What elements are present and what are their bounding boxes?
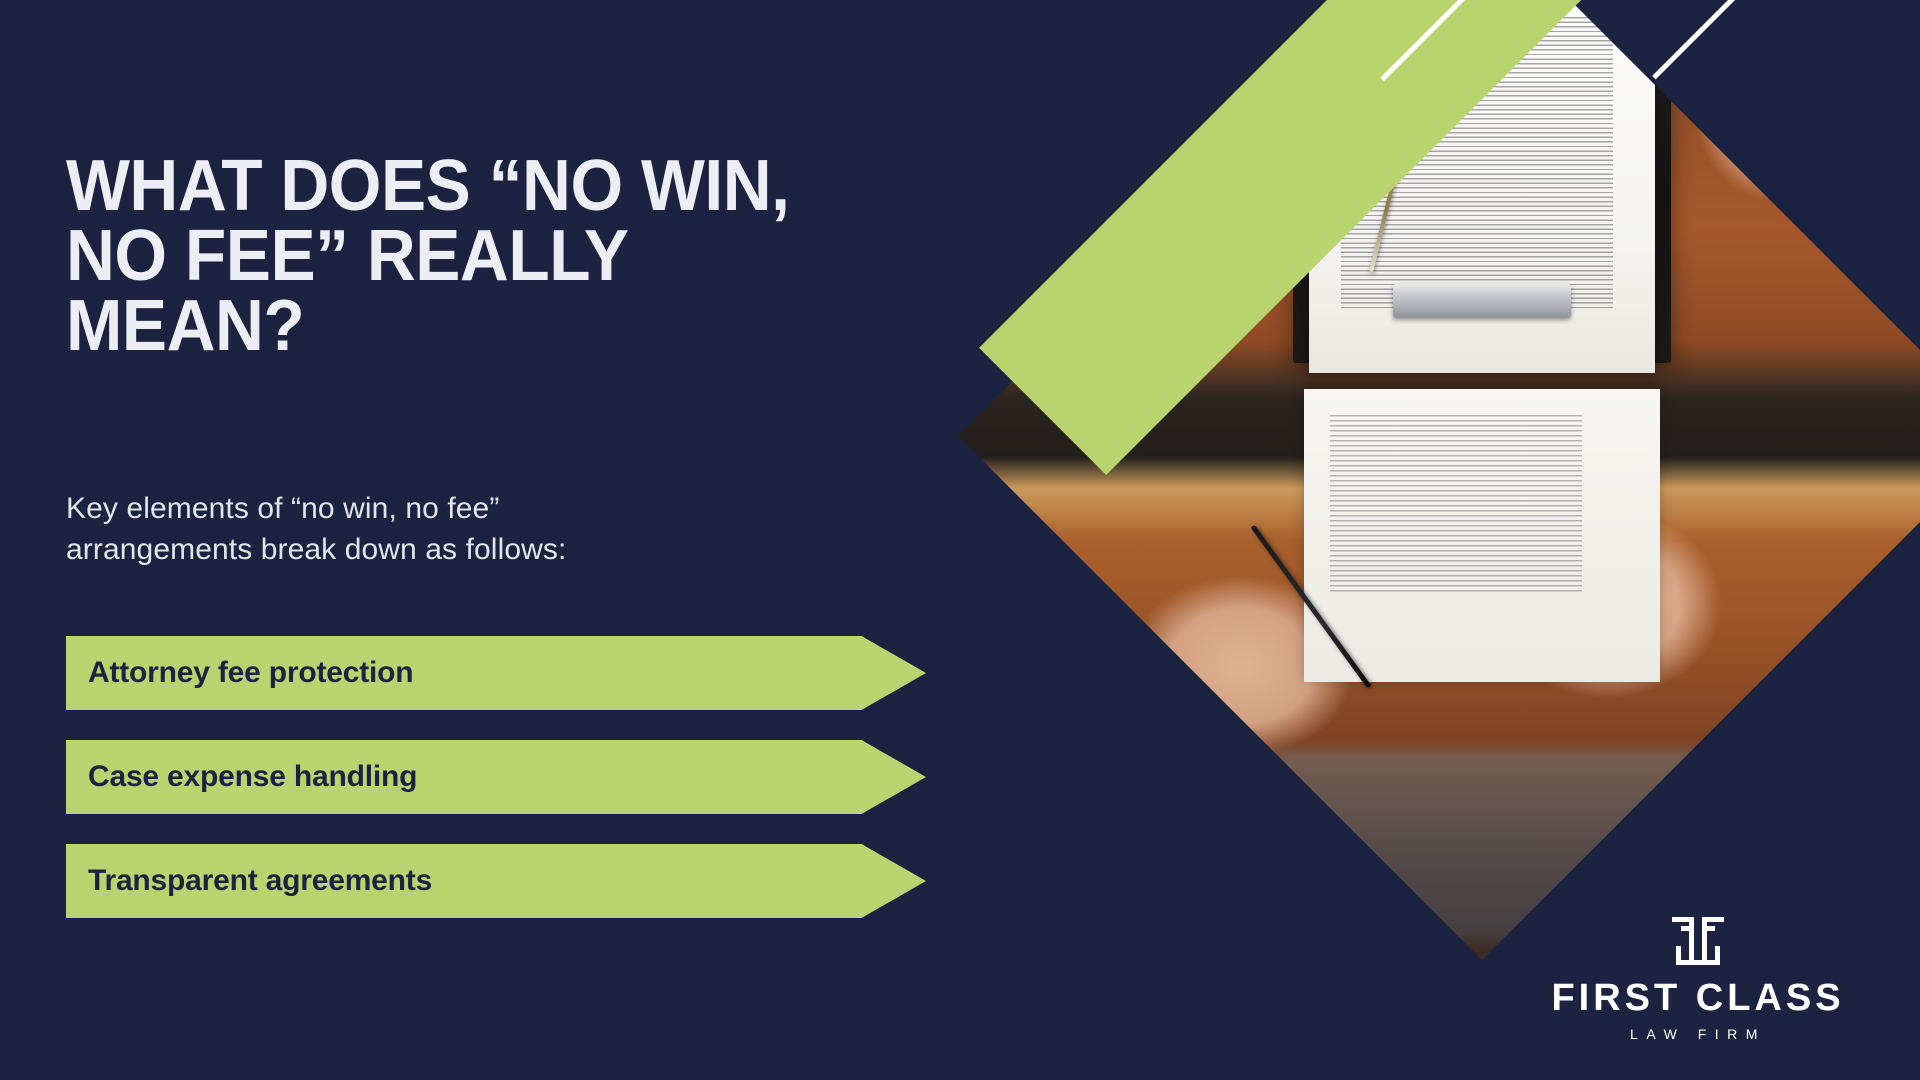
headline-line-1: WHAT DOES “NO WIN, [66,146,789,226]
list-item[interactable]: Case expense handling [66,740,926,814]
key-elements-list: Attorney fee protection Case expense han… [66,636,946,948]
list-item[interactable]: Attorney fee protection [66,636,926,710]
brand-name: FIRST CLASS [1528,979,1868,1017]
headline-line-2: NO FEE” REALLY [66,216,629,296]
content-column: WHAT DOES “NO WIN,NO FEE” REALLYMEAN? Ke… [66,0,946,1080]
clipboard-clip [1393,284,1571,318]
diagonal-white-line-short [1652,0,1839,79]
list-item-label: Attorney fee protection [88,636,413,710]
lower-document-text-lines [1330,415,1582,593]
hero-photo-diamond [958,0,1920,960]
brand-tagline: LAW FIRM [1528,1026,1868,1042]
sleeve-shadow [1272,750,1712,939]
list-item-label: Case expense handling [88,740,417,814]
subheading: Key elements of “no win, no fee”arrangem… [66,488,746,571]
headline-line-3: MEAN? [66,286,304,366]
brand-logo[interactable]: FIRST CLASS LAW FIRM [1528,915,1868,1042]
first-class-monogram-icon [1670,915,1726,967]
slide-canvas: WHAT DOES “NO WIN,NO FEE” REALLYMEAN? Ke… [0,0,1920,1080]
list-item-label: Transparent agreements [88,844,432,918]
subheading-line-2: arrangements break down as follows: [66,533,566,566]
list-item[interactable]: Transparent agreements [66,844,926,918]
page-title: WHAT DOES “NO WIN,NO FEE” REALLYMEAN? [66,152,950,361]
subheading-line-1: Key elements of “no win, no fee” [66,492,499,525]
desk-photo [958,0,1920,960]
